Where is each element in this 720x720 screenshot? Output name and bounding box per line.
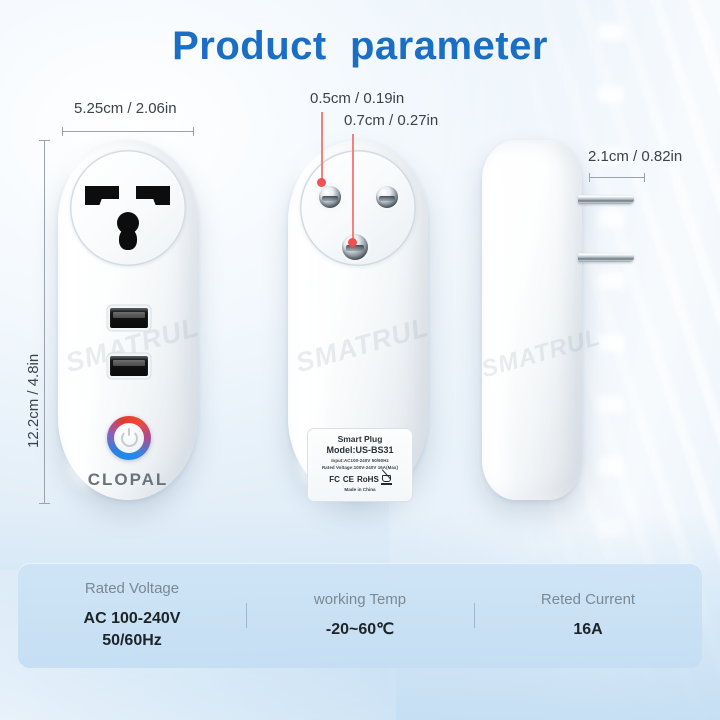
dim-label-pin-small: 0.5cm / 0.19in: [310, 90, 404, 107]
usb-port-top: [110, 308, 148, 328]
weee-bin-icon: [382, 474, 391, 485]
power-button[interactable]: [107, 416, 151, 460]
leader-line-pin-large: [352, 134, 354, 240]
back-unit: SMATRUL Smart Plug Model:US-BS31 Input:A…: [288, 140, 428, 500]
page-title: Product parameter: [0, 24, 720, 69]
product-label: Smart Plug Model:US-BS31 Input:AC100-240…: [307, 428, 413, 502]
dim-line-front-width: [62, 131, 194, 132]
leader-dot-pin-small: [317, 178, 326, 187]
dim-label-front-width: 5.25cm / 2.06in: [74, 100, 177, 117]
usb-tongue-bottom: [113, 360, 145, 365]
pin-base-left: [319, 186, 341, 208]
label-origin: Made in China: [308, 487, 412, 492]
cert-fc: FC: [329, 475, 340, 484]
spec-value-rated-voltage: AC 100-240V 50/60Hz: [84, 608, 181, 651]
label-product-name: Smart Plug: [308, 434, 412, 445]
side-unit: SMATRUL: [482, 140, 582, 500]
pin-base-right: [376, 186, 398, 208]
power-button-inner: [114, 423, 144, 453]
dim-line-pin-length: [589, 177, 645, 178]
usb-tongue-top: [113, 312, 145, 317]
usb-port-bottom: [110, 356, 148, 376]
spec-col-rated-current: Reted Current 16A: [474, 591, 702, 641]
front-unit: SMATRUL CLOPAL: [58, 140, 198, 500]
socket-slot-right-wing: [151, 193, 170, 205]
dim-line-front-height: [44, 140, 45, 504]
leader-line-pin-small: [321, 112, 323, 180]
side-unit-highlight: [490, 151, 516, 489]
universal-socket: [70, 150, 186, 266]
dim-label-pin-length: 2.1cm / 0.82in: [588, 148, 682, 165]
spec-panel: Rated Voltage AC 100-240V 50/60Hz workin…: [18, 563, 702, 668]
dim-label-pin-large: 0.7cm / 0.27in: [344, 112, 438, 129]
spec-label-working-temp: working Temp: [314, 591, 406, 608]
spec-label-rated-voltage: Rated Voltage: [85, 580, 179, 597]
spec-value-rated-current: 16A: [573, 619, 602, 641]
dim-label-front-height: 12.2cm / 4.8in: [25, 354, 42, 448]
label-certifications: FC CE RoHS: [308, 474, 412, 485]
side-pin-bottom: [578, 253, 634, 262]
spec-label-rated-current: Reted Current: [541, 591, 635, 608]
infographic-canvas: Product parameter SMATRUL CLOPAL: [0, 0, 720, 720]
side-pin-top: [578, 195, 634, 204]
cert-ce: CE: [343, 475, 354, 484]
spec-value-working-temp: -20~60℃: [326, 619, 394, 641]
power-icon: [121, 430, 138, 447]
socket-ground-lower: [119, 228, 137, 250]
label-model: Model:US-BS31: [308, 445, 412, 456]
label-rated: Rated Voltage:100V-240V 16A(Max): [308, 465, 412, 471]
brand-label: CLOPAL: [58, 470, 198, 490]
spec-col-working-temp: working Temp -20~60℃: [246, 591, 474, 641]
cert-rohs: RoHS: [357, 475, 379, 484]
socket-slot-left-wing: [85, 193, 104, 205]
spec-col-rated-voltage: Rated Voltage AC 100-240V 50/60Hz: [18, 580, 246, 651]
leader-dot-pin-large: [348, 238, 357, 247]
